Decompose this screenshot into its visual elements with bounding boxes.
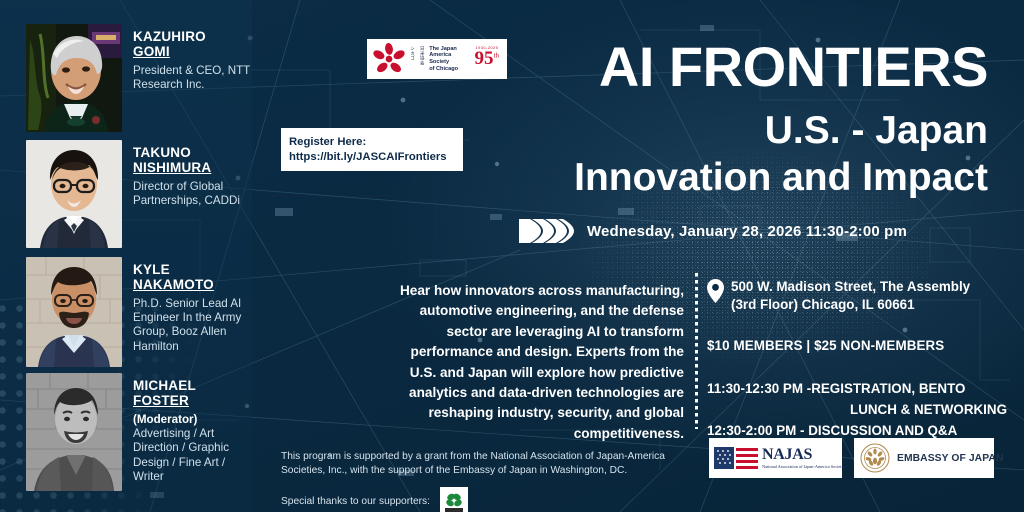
speaker-role: Ph.D. Senior Lead AI Engineer In the Arm…	[133, 297, 255, 354]
register-label: Register Here:	[289, 135, 455, 150]
anniversary-badge: 1930-2025 95th	[475, 49, 502, 69]
speaker-role: President & CEO, NTT Research Inc.	[133, 64, 255, 92]
subtitle-line1: U.S. - Japan	[765, 110, 988, 152]
event-date-row: Wednesday, January 28, 2026 11:30-2:00 p…	[519, 218, 907, 244]
speaker-name: KYLE NAKAMOTO	[133, 263, 255, 292]
event-description: Hear how innovators across manufacturing…	[392, 281, 684, 444]
embassy-seal-icon	[860, 443, 890, 473]
speaker-card: MICHAEL FOSTER (Moderator) Advertising /…	[26, 373, 255, 491]
najas-flags-icon	[714, 447, 758, 469]
jasc-name: The Japan America Society of Chicago	[429, 46, 458, 72]
moderator-badge: (Moderator)	[133, 413, 255, 427]
page-title: AI FRONTIERS	[599, 39, 988, 95]
anniversary-arc-text: 1930-2025	[476, 45, 499, 50]
najas-logo-card: NAJAS National Association of Japan-Amer…	[709, 438, 842, 478]
jasc-logo-card: シカゴ 日米協会 The Japan America Society of Ch…	[367, 39, 507, 79]
speaker-name: TAKUNO NISHIMURA	[133, 146, 255, 175]
register-link[interactable]: https://bit.ly/JASCAIFrontiers	[289, 150, 455, 165]
embassy-label: EMBASSY OF JAPAN	[897, 453, 1004, 464]
embassy-logo-card: EMBASSY OF JAPAN	[854, 438, 994, 478]
vertical-dotted-divider	[695, 273, 698, 429]
speaker-card: TAKUNO NISHIMURA Director of Global Part…	[26, 140, 255, 248]
sakura-flower-icon	[372, 43, 406, 75]
venue-block: 500 W. Madison Street, The Assembly (3rd…	[707, 278, 1007, 314]
jasc-kanji-small: 日米協会	[420, 46, 426, 73]
supporters-row: Special thanks to our supporters:	[281, 487, 468, 512]
subtitle-line2: Innovation and Impact	[574, 157, 988, 199]
support-note: This program is supported by a grant fro…	[281, 450, 691, 478]
supporters-label: Special thanks to our supporters:	[281, 496, 430, 507]
venue-address: 500 W. Madison Street, The Assembly (3rd…	[731, 278, 970, 314]
triple-chevron-right-icon	[519, 218, 574, 244]
avatar	[26, 24, 122, 132]
speaker-role: Director of Global Partnerships, CADDi	[133, 180, 255, 208]
speaker-card: KYLE NAKAMOTO Ph.D. Senior Lead AI Engin…	[26, 257, 255, 367]
jasc-kanji-vertical: シカゴ	[410, 46, 416, 73]
event-schedule: 11:30-12:30 PM -REGISTRATION, BENTO LUNC…	[707, 378, 1007, 441]
najas-name: NAJAS	[762, 447, 846, 463]
jetro-clover-logo	[440, 487, 468, 512]
event-date: Wednesday, January 28, 2026 11:30-2:00 p…	[587, 223, 907, 240]
register-card[interactable]: Register Here: https://bit.ly/JASCAIFron…	[281, 128, 463, 171]
speaker-role: (Moderator) Advertising / Art Direction …	[133, 413, 255, 484]
avatar	[26, 373, 122, 491]
najas-tagline: National Association of Japan-America So…	[762, 465, 846, 469]
avatar	[26, 140, 122, 248]
map-pin-icon	[707, 279, 724, 303]
speaker-name: KAZUHIRO GOMI	[133, 30, 255, 59]
avatar	[26, 257, 122, 367]
speaker-name: MICHAEL FOSTER	[133, 379, 255, 408]
event-poster: KAZUHIRO GOMI President & CEO, NTT Resea…	[0, 0, 1024, 512]
speaker-card: KAZUHIRO GOMI President & CEO, NTT Resea…	[26, 24, 255, 132]
event-details: 500 W. Madison Street, The Assembly (3rd…	[707, 278, 1007, 441]
ticket-price: $10 MEMBERS | $25 NON-MEMBERS	[707, 338, 1007, 353]
